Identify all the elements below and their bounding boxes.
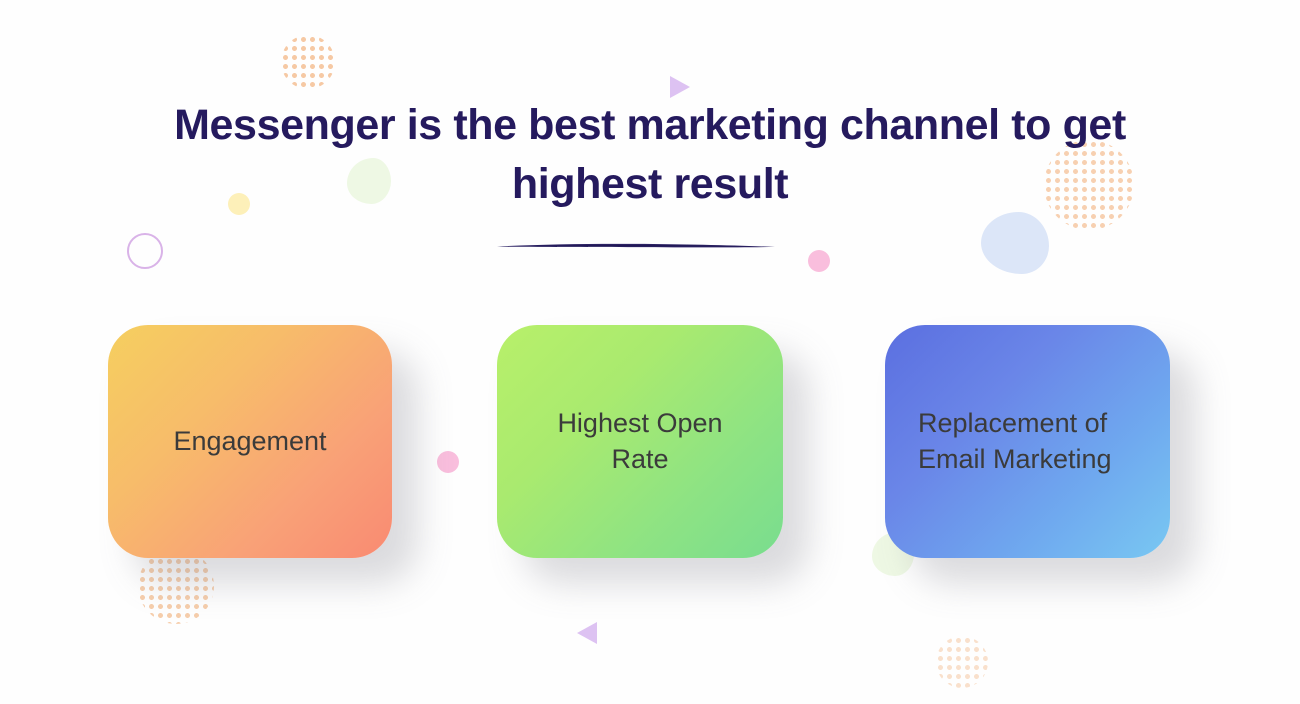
- card-replacement-of-email-marketing-label: Replacement of Email Marketing: [918, 406, 1112, 478]
- card-engagement-label: Engagement: [173, 424, 326, 460]
- heading-block: Messenger is the best marketing channel …: [0, 96, 1300, 215]
- blue-blob: [981, 212, 1049, 274]
- card-engagement[interactable]: Engagement: [108, 325, 392, 558]
- card-highest-open-rate-label: Highest Open Rate: [557, 406, 722, 478]
- triangle-right-icon: [670, 76, 690, 98]
- slide-canvas: Messenger is the best marketing channel …: [0, 0, 1300, 704]
- triangle-left-icon: [577, 622, 597, 644]
- card-replacement-of-email-marketing[interactable]: Replacement of Email Marketing: [885, 325, 1170, 558]
- outline-circle-icon: [127, 233, 163, 269]
- halftone-dot-circle-bottom-left: [138, 548, 214, 624]
- pink-dot-upper-right: [808, 250, 830, 272]
- card-highest-open-rate[interactable]: Highest Open Rate: [497, 325, 783, 558]
- halftone-dot-circle-top-left: [281, 35, 335, 89]
- halftone-dot-circle-bottom-right: [936, 636, 988, 688]
- title-underline-stroke: [497, 243, 775, 249]
- page-title: Messenger is the best marketing channel …: [0, 96, 1300, 215]
- pink-dot-between-cards: [437, 451, 459, 473]
